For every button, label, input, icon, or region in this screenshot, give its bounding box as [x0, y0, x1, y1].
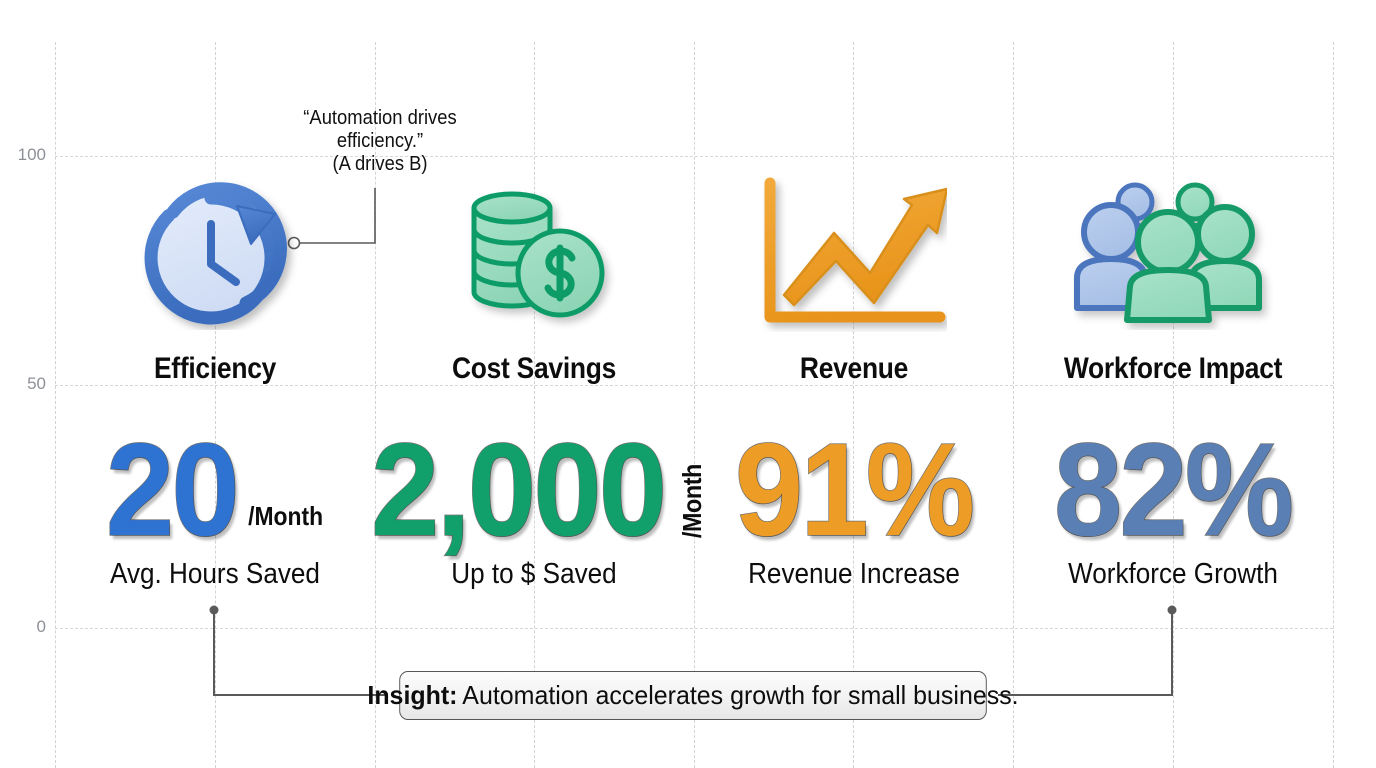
stat-value-cost-savings: 2,000: [371, 432, 664, 548]
growth-arrow-chart-icon: [694, 172, 1014, 337]
gridline-vertical: [1333, 42, 1334, 768]
insight-leader-line-right: [998, 613, 1172, 695]
stat-value-row-efficiency: 20 /Month: [55, 408, 375, 548]
insight-leader-line-left: [214, 613, 388, 695]
category-label-workforce-impact: Workforce Impact: [1032, 352, 1314, 386]
stat-value-row-cost-savings: 2,000 /Month: [374, 408, 694, 548]
insight-anchor-dot-left: [210, 606, 219, 615]
gridline-vertical: [1013, 42, 1014, 768]
category-label-cost-savings: Cost Savings: [393, 352, 675, 386]
category-label-revenue: Revenue: [713, 352, 995, 386]
stat-value-revenue: 91%: [735, 432, 972, 548]
gridline-vertical: [694, 42, 695, 768]
coins-dollar-icon: [374, 172, 694, 337]
annotation-line-2: efficiency.”: [286, 130, 474, 153]
stat-value-row-revenue: 91%: [694, 408, 1014, 548]
annotation-line-1: “Automation drives: [286, 107, 474, 130]
gridline-vertical: [853, 42, 854, 768]
people-group-icon: [1013, 172, 1333, 337]
stat-suffix-efficiency: /Month: [248, 501, 323, 548]
stat-value-efficiency: 20: [106, 432, 237, 548]
y-axis-tick-label: 50: [2, 374, 46, 394]
insight-text: Automation accelerates growth for small …: [462, 680, 1018, 711]
y-axis-tick-label: 100: [2, 145, 46, 165]
stat-sublabel-efficiency: Avg. Hours Saved: [71, 558, 359, 591]
stat-value-workforce-impact: 82%: [1054, 432, 1291, 548]
insight-callout-box: Insight: Automation accelerates growth f…: [399, 671, 987, 720]
insight-label: Insight:: [367, 680, 457, 711]
annotation-callout: “Automation drives efficiency.” (A drive…: [286, 107, 474, 177]
y-axis-tick-label: 0: [2, 617, 46, 637]
gridline-vertical: [55, 42, 56, 768]
stat-sublabel-cost-savings: Up to $ Saved: [390, 558, 678, 591]
stat-sublabel-workforce-impact: Workforce Growth: [1029, 558, 1317, 591]
stat-sublabel-revenue: Revenue Increase: [710, 558, 998, 591]
gridline-vertical: [1173, 42, 1174, 768]
stat-value-row-workforce-impact: 82%: [1013, 408, 1333, 548]
gridline-horizontal: [55, 628, 1333, 629]
clock-refresh-icon: [55, 172, 375, 337]
gridline-vertical: [215, 42, 216, 768]
gridline-horizontal: [55, 156, 1333, 157]
infographic-canvas: 100 50 0 “Automation drives efficiency.”…: [0, 0, 1376, 768]
category-label-efficiency: Efficiency: [74, 352, 356, 386]
gridline-vertical: [534, 42, 535, 768]
insight-anchor-dot-right: [1168, 606, 1177, 615]
